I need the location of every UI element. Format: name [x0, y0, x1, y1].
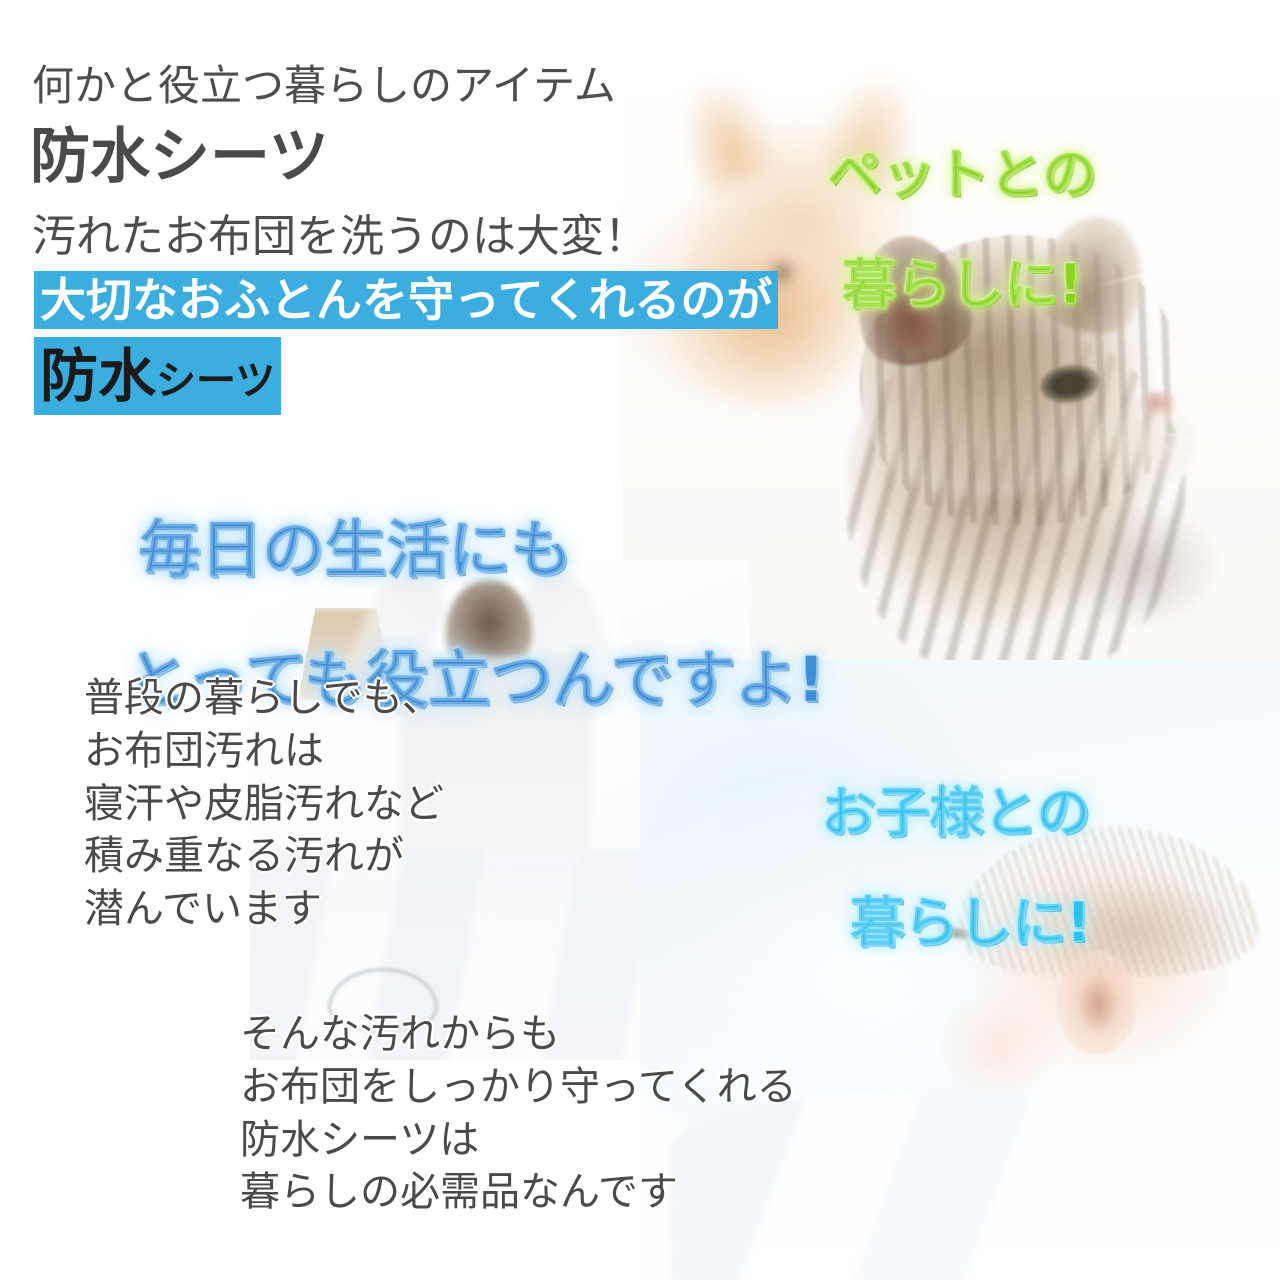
body-copy-bottom: そんな汚れからも お布団をしっかり守ってくれる 防水シーツは 暮らしの必需品なん…	[240, 1008, 797, 1219]
badge-kids-line2: 暮らしに!	[746, 895, 1091, 950]
subheading-text: 汚れたお布団を洗うのは大変！	[32, 200, 648, 264]
highlight-band-protect: 大切なおふとんを守ってくれるのが	[34, 271, 778, 329]
highlight-band-product-sub: シーツ	[156, 361, 275, 401]
highlight-band-protect-label: 大切なおふとんを守ってくれるのが	[40, 277, 772, 323]
eyebrow-text: 何かと役立つ暮らしのアイテム	[32, 52, 616, 113]
highlight-band-product: 防水 シーツ	[34, 337, 281, 415]
badge-kids: お子様との 暮らしに!	[746, 730, 1091, 1060]
badge-pet-line2: 暮らしに!	[752, 257, 1097, 312]
badge-kids-line1: お子様との	[821, 781, 1090, 844]
body-copy-top: 普段の暮らしでも、 お布団汚れは 寝汗や皮脂汚れなど 積み重なる汚れが 潜んでい…	[84, 672, 444, 936]
tabby-kitten-nose	[1140, 390, 1176, 416]
highlight-band-product-main: 防水	[40, 347, 156, 405]
badge-pet-line1: ペットとの	[827, 143, 1096, 206]
page-title: 防水シーツ	[30, 108, 329, 195]
badge-pet: ペットとの 暮らしに!	[752, 92, 1097, 422]
main-headline-line1: 毎日の生活にも	[138, 513, 572, 586]
advertisement-page: 何かと役立つ暮らしのアイテム 防水シーツ 汚れたお布団を洗うのは大変！ 大切なお…	[0, 0, 1280, 1280]
tabby-kitten-muzzle	[1090, 400, 1200, 490]
